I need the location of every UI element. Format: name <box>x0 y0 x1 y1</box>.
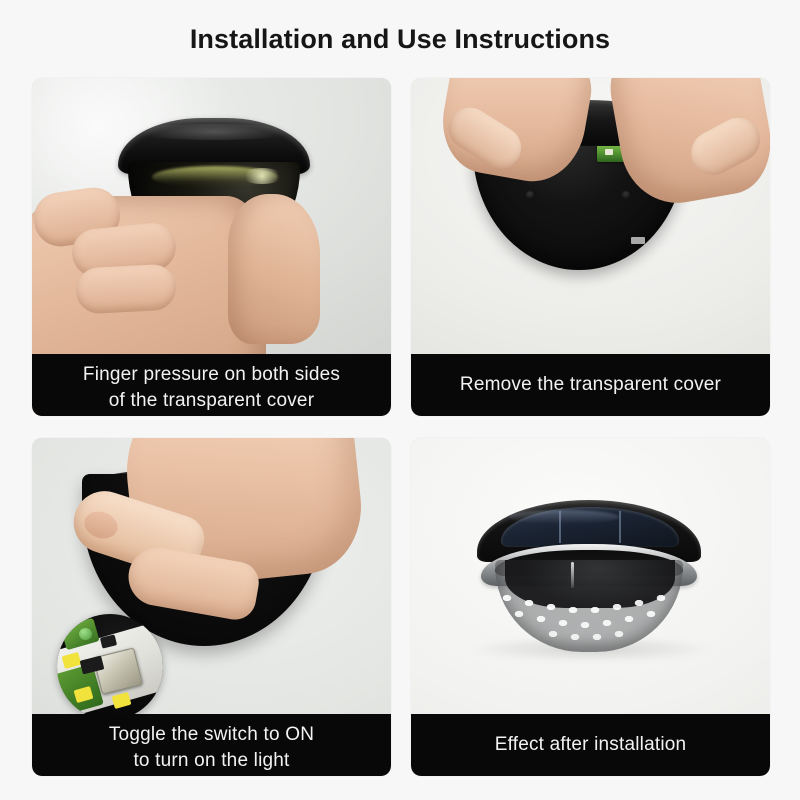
step-2-caption-line-1: Remove the transparent cover <box>460 372 721 398</box>
step-panel-1[interactable]: Finger pressure on both sides of the tra… <box>32 78 391 416</box>
lid-sheen <box>132 124 296 140</box>
step-4-caption: Effect after installation <box>411 714 770 776</box>
lens-vertical-highlight <box>571 562 574 588</box>
step-1-caption-line-1: Finger pressure on both sides <box>42 362 381 388</box>
step-1-caption: Finger pressure on both sides of the tra… <box>32 354 391 416</box>
lens-dimple-texture <box>495 590 683 652</box>
magnified-switch-callout <box>57 614 163 720</box>
callout-led-pad <box>112 692 132 709</box>
solar-cell-divider <box>559 511 561 543</box>
pcb-led <box>605 149 613 155</box>
step-4-caption-line-1: Effect after installation <box>495 732 687 758</box>
step-3-caption-line-2: to turn on the light <box>42 748 381 774</box>
transparent-cover <box>495 560 683 652</box>
step-panel-3[interactable]: Toggle the switch to ON to turn on the l… <box>32 438 391 776</box>
steps-grid: Finger pressure on both sides of the tra… <box>32 78 770 776</box>
step-1-caption-line-2: of the transparent cover <box>42 388 381 414</box>
finger-right <box>684 110 768 183</box>
instruction-page: Installation and Use Instructions <box>0 0 800 800</box>
callout-green-component <box>79 628 92 640</box>
cover-highlight <box>240 168 284 184</box>
installed-solar-light <box>477 500 701 652</box>
solar-panel <box>501 507 679 547</box>
step-3-caption-line-1: Toggle the switch to ON <box>42 722 381 748</box>
step-2-caption: Remove the transparent cover <box>411 354 770 416</box>
solar-panel-gloss <box>509 510 619 524</box>
page-title: Installation and Use Instructions <box>0 24 800 55</box>
solar-cell-divider <box>619 511 621 543</box>
step-panel-2[interactable]: Remove the transparent cover <box>411 78 770 416</box>
finger-3 <box>75 263 177 314</box>
housing-label <box>631 237 645 244</box>
step-3-caption: Toggle the switch to ON to turn on the l… <box>32 714 391 776</box>
step-panel-4[interactable]: Effect after installation <box>411 438 770 776</box>
mount-hole-right <box>621 190 632 199</box>
mount-hole-left <box>525 190 536 199</box>
thumb <box>228 194 320 344</box>
